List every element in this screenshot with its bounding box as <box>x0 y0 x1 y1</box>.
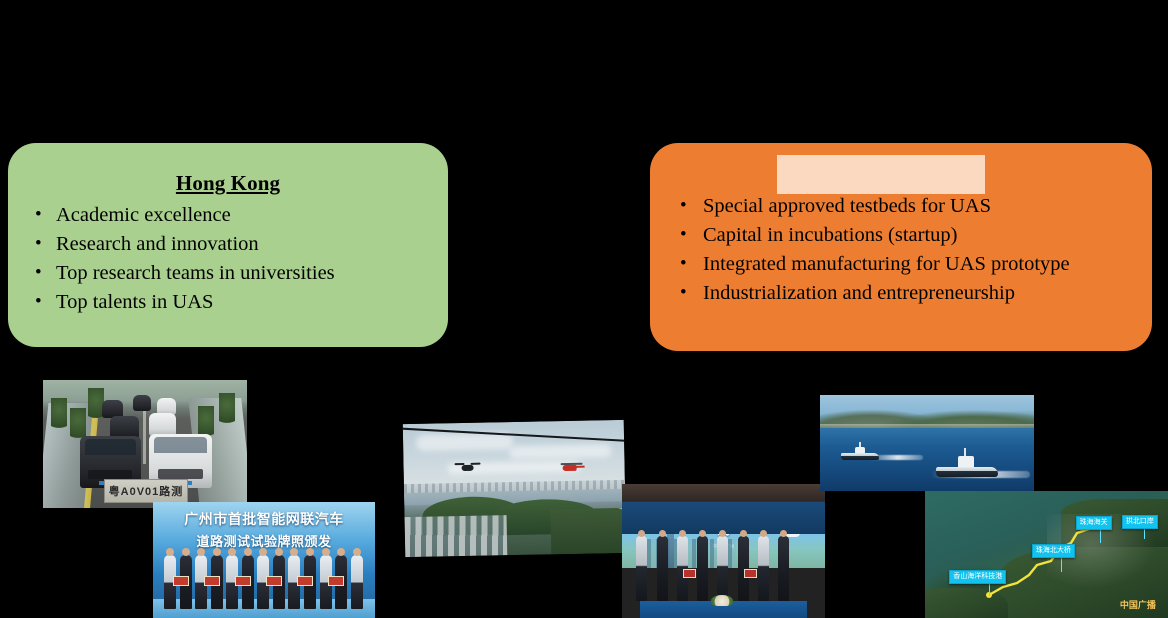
unmanned-boat <box>936 456 998 477</box>
list-item: Industrialization and entrepreneurship <box>650 279 1152 308</box>
signing-attendee <box>636 536 647 600</box>
list-item: Academic excellence <box>8 201 448 230</box>
photo-road-test-licence-ceremony: 广州市首批智能网联汽车 道路测试试验牌照颁发 <box>153 502 375 618</box>
photo-unmanned-surface-vessels <box>820 395 1034 491</box>
drone-body <box>461 464 473 470</box>
grille <box>88 470 132 479</box>
boat-hull <box>841 453 879 460</box>
grille <box>158 469 204 479</box>
passenger-drone-icon <box>454 461 480 472</box>
lane-marking <box>143 406 146 465</box>
photo-content <box>403 420 627 557</box>
signing-folder <box>683 569 696 578</box>
list-item: Special approved testbeds for UAS <box>650 192 1152 221</box>
boat-hull <box>936 467 998 478</box>
greater-bay-area-title-highlight <box>777 155 985 194</box>
helicopter-icon <box>560 462 584 472</box>
hong-kong-title: Hong Kong <box>8 172 448 195</box>
overlay-licence-plate: 粤A0V01路测 <box>104 479 188 503</box>
signing-attendee <box>697 536 708 600</box>
car-in-queue <box>133 395 151 410</box>
landmark-tower-art <box>667 528 674 568</box>
greater-bay-area-bullet-list: Special approved testbeds for UAS Capita… <box>650 192 1152 308</box>
photo-content: EHANG 亿航 东部通航 亿航智能与东部通航战略合作签约仪式 中国·广州 <box>622 484 825 618</box>
watermark-text: 中国广播 <box>1120 601 1156 609</box>
slide-canvas: Hong Kong Academic excellence Research a… <box>0 0 1168 618</box>
map-label: 香山海洋科技港 <box>949 570 1006 584</box>
windshield <box>85 439 136 454</box>
map-label: 拱北口岸 <box>1122 515 1158 529</box>
roadside-tree <box>51 398 67 432</box>
photo-content: 粤A0V01路测 <box>43 380 247 508</box>
car-in-queue <box>157 398 175 415</box>
signing-attendee <box>758 536 769 600</box>
highway <box>550 508 626 555</box>
signing-attendee <box>717 536 728 600</box>
photo-content: 香山海洋科技港 珠海北大桥 珠海海关 拱北口岸 中国广播 <box>925 491 1168 618</box>
signing-attendee <box>657 536 668 600</box>
roadside-tree <box>219 393 235 427</box>
broadcaster-watermark: 中国广播 <box>1120 601 1156 609</box>
hong-kong-bullet-list: Academic excellence Research and innovat… <box>8 201 448 317</box>
certificate <box>266 576 282 586</box>
signing-folder <box>744 569 757 578</box>
photo-autonomous-vehicle-fleet: 粤A0V01路测 <box>43 380 247 508</box>
windshield <box>154 437 207 453</box>
certificate <box>204 576 220 586</box>
photo-strategic-cooperation-signing: EHANG 亿航 东部通航 亿航智能与东部通航战略合作签约仪式 中国·广州 <box>622 484 825 618</box>
cloud <box>416 433 514 451</box>
list-item: Capital in incubations (startup) <box>650 221 1152 250</box>
cloud <box>509 444 611 459</box>
car-in-queue <box>149 413 176 436</box>
photo-content: 广州市首批智能网联汽车 道路测试试验牌照颁发 <box>153 502 375 618</box>
helicopter-body <box>562 465 576 471</box>
tail-boom <box>575 466 584 468</box>
map-label: 珠海海关 <box>1076 516 1112 530</box>
label-leader-line <box>989 582 990 596</box>
photo-content <box>820 395 1034 491</box>
list-item: Top research teams in universities <box>8 259 448 288</box>
table-flowers <box>711 595 733 606</box>
banner-line-1: 广州市首批智能网联汽车 <box>153 509 375 529</box>
list-item: Top talents in UAS <box>8 288 448 317</box>
certificate <box>173 576 189 586</box>
unmanned-boat <box>841 447 879 460</box>
ceremony-attendee <box>351 555 363 608</box>
certificate <box>235 576 251 586</box>
certificate <box>297 576 313 586</box>
banner-line-2: 道路测试试验牌照颁发 <box>153 531 375 550</box>
certificate <box>328 576 344 586</box>
list-item: Integrated manufacturing for UAS prototy… <box>650 250 1152 279</box>
list-item: Research and innovation <box>8 230 448 259</box>
photo-evtol-and-helicopter-flight <box>403 420 627 557</box>
low-rise-town <box>405 515 507 557</box>
hong-kong-title-text: Hong Kong <box>176 171 280 195</box>
hong-kong-callout-box: Hong Kong Academic excellence Research a… <box>8 143 448 347</box>
greater-bay-area-callout-box: Greater Bay Area Special approved testbe… <box>650 143 1152 351</box>
map-label: 珠海北大桥 <box>1032 544 1075 558</box>
stage-area <box>622 484 825 534</box>
signing-attendee <box>778 536 789 600</box>
photo-satellite-route-map: 香山海洋科技港 珠海北大桥 珠海海关 拱北口岸 中国广播 <box>925 491 1168 618</box>
